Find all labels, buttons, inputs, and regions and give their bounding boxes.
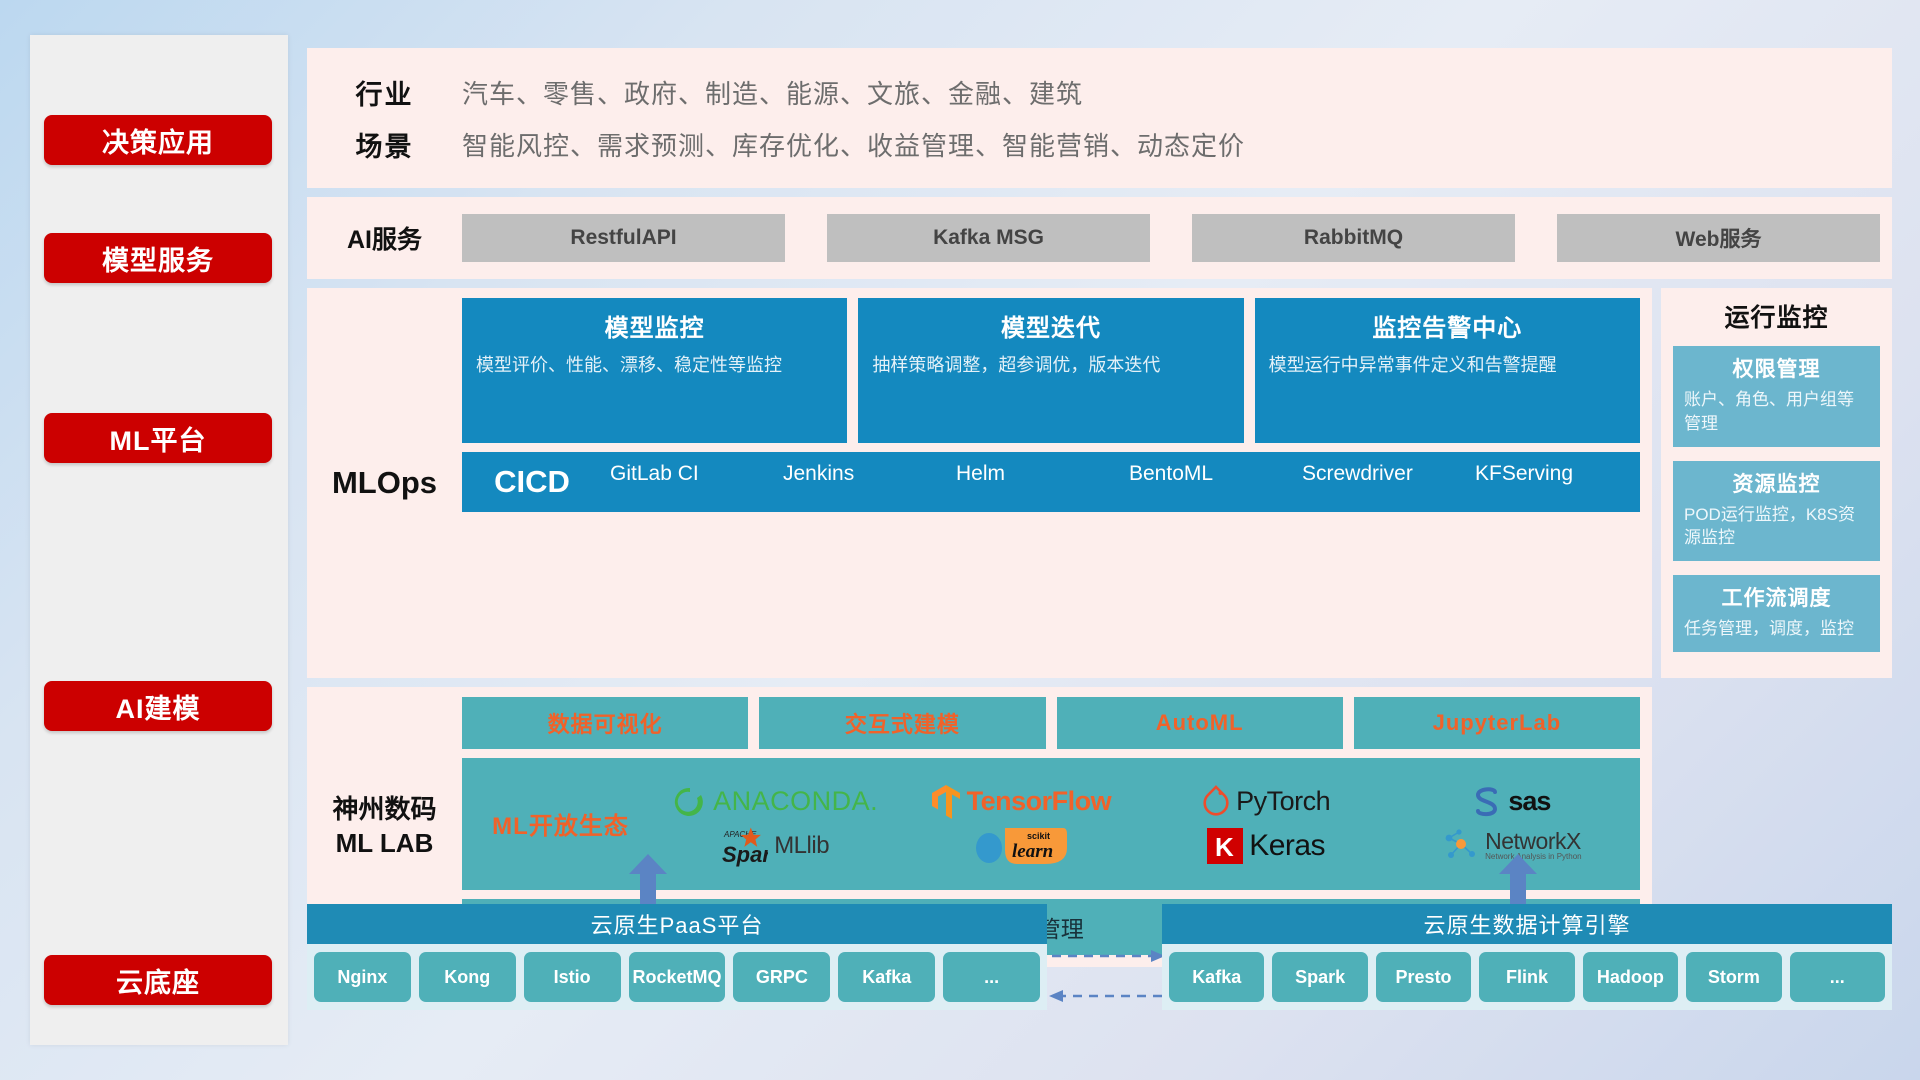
card-desc: 任务管理，调度，监控 xyxy=(1684,617,1869,641)
tensorflow-icon xyxy=(931,784,961,820)
tensorflow-logo: TensorFlow xyxy=(931,784,1112,820)
card-desc: 账户、角色、用户组等管理 xyxy=(1684,388,1869,436)
paas-chip-grpc[interactable]: GRPC xyxy=(733,952,830,1002)
cicd-item-jenkins[interactable]: Jenkins xyxy=(775,462,948,485)
scenario-label: 场景 xyxy=(307,125,462,164)
industry-row: 行业 汽车、零售、政府、制造、能源、文旅、金融、建筑 xyxy=(307,66,1892,118)
paas-chip-group: Nginx Kong Istio RocketMQ GRPC Kafka ... xyxy=(307,944,1047,1010)
card-desc: 抽样策略调整，超参调优，版本迭代 xyxy=(872,352,1229,378)
ai-service-chip-web-service[interactable]: Web服务 xyxy=(1557,214,1880,262)
card-title: 模型迭代 xyxy=(872,308,1229,343)
card-title: 工作流调度 xyxy=(1684,582,1869,612)
sidebar-item-ai-modeling[interactable]: AI建模 xyxy=(44,681,272,731)
cloud-native-data-engine-group: 云原生数据计算引擎 Kafka Spark Presto Flink Hadoo… xyxy=(1162,904,1892,1010)
mlops-card-group: 模型监控 模型评价、性能、漂移、稳定性等监控 模型迭代 抽样策略调整，超参调优，… xyxy=(462,298,1640,443)
lab-tool-automl[interactable]: AutoML xyxy=(1057,697,1343,749)
ai-service-chip-group: RestfulAPI Kafka MSG RabbitMQ Web服务 xyxy=(462,214,1892,262)
sas-logo: sas xyxy=(1472,786,1550,818)
stage-label: 决策应用 xyxy=(102,121,214,160)
data-engine-chip-group: Kafka Spark Presto Flink Hadoop Storm ..… xyxy=(1162,944,1892,1010)
sas-wordmark: sas xyxy=(1508,786,1550,817)
card-desc: 模型评价、性能、漂移、稳定性等监控 xyxy=(476,352,833,378)
decision-apps-band: 行业 汽车、零售、政府、制造、能源、文旅、金融、建筑 场景 智能风控、需求预测、… xyxy=(307,48,1892,188)
bidirectional-connector xyxy=(1047,944,1167,1014)
cicd-item-kfserving[interactable]: KFServing xyxy=(1467,462,1640,485)
sidebar-item-cloud-foundation[interactable]: 云底座 xyxy=(44,955,272,1005)
paas-chip-istio[interactable]: Istio xyxy=(524,952,621,1002)
panel-title: 运行监控 xyxy=(1673,298,1880,334)
data-engine-chip-more[interactable]: ... xyxy=(1790,952,1885,1002)
paas-chip-kong[interactable]: Kong xyxy=(419,952,516,1002)
paas-chip-nginx[interactable]: Nginx xyxy=(314,952,411,1002)
pytorch-icon xyxy=(1202,785,1230,819)
ml-platform-row: MLOps 模型监控 模型评价、性能、漂移、稳定性等监控 模型迭代 抽样策略调整… xyxy=(307,288,1892,678)
cloud-native-paas-group: 云原生PaaS平台 Nginx Kong Istio RocketMQ GRPC… xyxy=(307,904,1047,1010)
svg-text:scikit: scikit xyxy=(1027,831,1050,841)
paas-chip-rocketmq[interactable]: RocketMQ xyxy=(629,952,726,1002)
lab-tool-jupyterlab[interactable]: JupyterLab xyxy=(1354,697,1640,749)
ai-service-chip-rabbitmq[interactable]: RabbitMQ xyxy=(1192,214,1515,262)
cicd-item-bentoml[interactable]: BentoML xyxy=(1121,462,1294,485)
paas-up-arrow xyxy=(627,852,669,904)
cicd-title: CICD xyxy=(462,464,602,500)
cloud-foundation-zone: 云原生PaaS平台 Nginx Kong Istio RocketMQ GRPC… xyxy=(307,852,1892,1042)
data-engine-title: 云原生数据计算引擎 xyxy=(1162,904,1892,944)
ml-lab-label-line1: 神州数码 xyxy=(332,793,436,827)
networkx-wordmark: NetworkX xyxy=(1485,830,1582,853)
mlops-card-model-iteration[interactable]: 模型迭代 抽样策略调整，超参调优，版本迭代 xyxy=(858,298,1243,443)
cicd-item-screwdriver[interactable]: Screwdriver xyxy=(1294,462,1467,485)
data-engine-chip-flink[interactable]: Flink xyxy=(1479,952,1574,1002)
cicd-item-gitlab-ci[interactable]: GitLab CI xyxy=(602,462,775,485)
mlops-card-model-monitoring[interactable]: 模型监控 模型评价、性能、漂移、稳定性等监控 xyxy=(462,298,847,443)
cicd-item-helm[interactable]: Helm xyxy=(948,462,1121,485)
mlops-band: MLOps 模型监控 模型评价、性能、漂移、稳定性等监控 模型迭代 抽样策略调整… xyxy=(307,288,1652,678)
sas-icon xyxy=(1472,786,1502,818)
anaconda-icon xyxy=(673,785,707,819)
sidebar-item-model-service[interactable]: 模型服务 xyxy=(44,233,272,283)
monitor-card-workflow[interactable]: 工作流调度 任务管理，调度，监控 xyxy=(1673,575,1880,652)
stage-label: ML平台 xyxy=(110,419,207,458)
ai-service-band: AI服务 RestfulAPI Kafka MSG RabbitMQ Web服务 xyxy=(307,197,1892,279)
industry-label: 行业 xyxy=(307,73,462,112)
scenario-list: 智能风控、需求预测、库存优化、收益管理、智能营销、动态定价 xyxy=(462,126,1245,163)
ml-ecosystem-label: ML开放生态 xyxy=(468,806,653,841)
scenario-row: 场景 智能风控、需求预测、库存优化、收益管理、智能营销、动态定价 xyxy=(307,118,1892,170)
pytorch-wordmark: PyTorch xyxy=(1236,786,1330,817)
monitor-card-resource[interactable]: 资源监控 POD运行监控，K8S资源监控 xyxy=(1673,461,1880,562)
anaconda-logo: ANACONDA. xyxy=(673,785,878,819)
data-engine-chip-kafka[interactable]: Kafka xyxy=(1169,952,1264,1002)
data-engine-up-arrow xyxy=(1497,852,1539,904)
stage-label: AI建模 xyxy=(116,687,201,726)
stage-label: 模型服务 xyxy=(102,239,214,278)
stage-sidebar: 决策应用 模型服务 ML平台 AI建模 云底座 xyxy=(30,35,288,1045)
sidebar-item-decision-apps[interactable]: 决策应用 xyxy=(44,115,272,165)
anaconda-wordmark: ANACONDA. xyxy=(713,786,878,817)
ai-service-label: AI服务 xyxy=(307,220,462,256)
card-desc: POD运行监控，K8S资源监控 xyxy=(1684,503,1869,551)
architecture-stack: 行业 汽车、零售、政府、制造、能源、文旅、金融、建筑 场景 智能风控、需求预测、… xyxy=(307,48,1892,976)
paas-title: 云原生PaaS平台 xyxy=(307,904,1047,944)
card-title: 资源监控 xyxy=(1684,468,1869,498)
cicd-bar: CICD GitLab CI Jenkins Helm BentoML Scre… xyxy=(462,452,1640,512)
data-engine-chip-presto[interactable]: Presto xyxy=(1376,952,1471,1002)
tensorflow-wordmark: TensorFlow xyxy=(967,786,1112,817)
lab-tool-interactive-modeling[interactable]: 交互式建模 xyxy=(759,697,1045,749)
industry-list: 汽车、零售、政府、制造、能源、文旅、金融、建筑 xyxy=(462,74,1083,111)
paas-chip-more[interactable]: ... xyxy=(943,952,1040,1002)
pytorch-logo: PyTorch xyxy=(1202,785,1330,819)
mlops-card-alert-center[interactable]: 监控告警中心 模型运行中异常事件定义和告警提醒 xyxy=(1255,298,1640,443)
data-engine-chip-hadoop[interactable]: Hadoop xyxy=(1583,952,1678,1002)
monitor-card-permission[interactable]: 权限管理 账户、角色、用户组等管理 xyxy=(1673,346,1880,447)
stage-label: 云底座 xyxy=(116,961,200,1000)
card-title: 模型监控 xyxy=(476,308,833,343)
sidebar-item-ml-platform[interactable]: ML平台 xyxy=(44,413,272,463)
ai-service-chip-kafka-msg[interactable]: Kafka MSG xyxy=(827,214,1150,262)
lab-tool-data-visualization[interactable]: 数据可视化 xyxy=(462,697,748,749)
paas-chip-kafka[interactable]: Kafka xyxy=(838,952,935,1002)
runtime-monitoring-panel: 运行监控 权限管理 账户、角色、用户组等管理 资源监控 POD运行监控，K8S资… xyxy=(1661,288,1892,678)
card-desc: 模型运行中异常事件定义和告警提醒 xyxy=(1269,352,1626,378)
ai-service-chip-restfulapi[interactable]: RestfulAPI xyxy=(462,214,785,262)
mlops-label: MLOps xyxy=(307,288,462,678)
lab-tool-row: 数据可视化 交互式建模 AutoML JupyterLab xyxy=(462,697,1640,749)
card-title: 权限管理 xyxy=(1684,353,1869,383)
card-title: 监控告警中心 xyxy=(1269,308,1626,343)
data-engine-chip-spark[interactable]: Spark xyxy=(1272,952,1367,1002)
data-engine-chip-storm[interactable]: Storm xyxy=(1686,952,1781,1002)
